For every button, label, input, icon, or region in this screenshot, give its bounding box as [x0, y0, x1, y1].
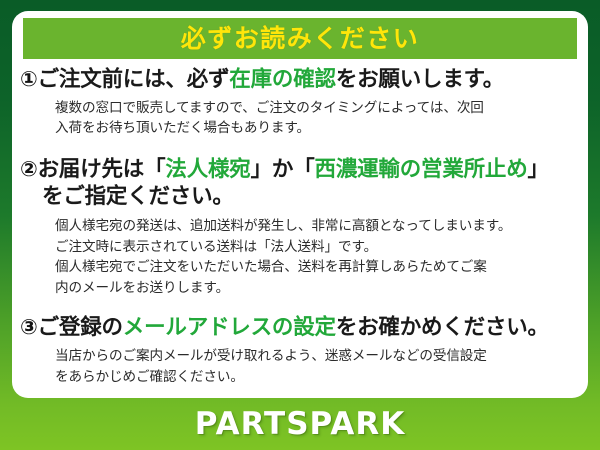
notice-item-1-heading: ① ご注文前には、必ず在庫の確認をお願いします。: [12, 66, 588, 94]
notice-item-2-heading-run-1: 法人様宛: [165, 157, 250, 182]
notice-item-2-heading-run-0: お届け先は「: [38, 157, 166, 182]
notice-item-1-body: 複数の窓口で販売してますので、ご注文のタイミングによっては、次回入荷をお待ち頂い…: [12, 98, 588, 139]
notice-banner: 必ずお読みください: [23, 18, 577, 59]
notice-item-2-number: ②: [20, 156, 38, 183]
notice-item-3-body-line-1: 当店からのご案内メールが受け取れるよう、迷惑メールなどの受信設定: [55, 346, 578, 367]
notice-item-2: ② お届け先は「法人様宛」か「西濃運輸の営業所止め」 をご指定ください。 個人様…: [12, 156, 588, 299]
notice-item-1-body-line-1: 複数の窓口で販売してますので、ご注文のタイミングによっては、次回: [55, 98, 578, 119]
notice-item-1-heading-text: ご注文前には、必ず在庫の確認をお願いします。: [38, 66, 504, 94]
notice-item-2-body-line-4: 内のメールをお送りします。: [55, 278, 578, 299]
notice-item-2-heading-run-4: 」: [528, 157, 549, 182]
notice-item-3-heading-run-2: をお確かめください。: [336, 315, 549, 340]
notice-item-3-number: ③: [20, 314, 38, 341]
banner-title: 必ずお読みください: [181, 26, 420, 51]
notice-item-2-body-line-3: 個人様宅宛でご注文をいただいた場合、送料を再計算しあらためてご案: [55, 257, 578, 278]
notice-item-2-heading-text: お届け先は「法人様宛」か「西濃運輸の営業所止め」: [38, 156, 549, 184]
notice-item-3-body: 当店からのご案内メールが受け取れるよう、迷惑メールなどの受信設定をあらかじめご確…: [12, 346, 588, 387]
notice-page: 必ずお読みください ① ご注文前には、必ず在庫の確認をお願いします。 複数の窓口…: [0, 0, 600, 450]
notice-item-1-heading-run-1: 在庫の確認: [229, 67, 336, 92]
notice-item-1: ① ご注文前には、必ず在庫の確認をお願いします。 複数の窓口で販売してますので、…: [12, 66, 588, 139]
notice-card: 必ずお読みください ① ご注文前には、必ず在庫の確認をお願いします。 複数の窓口…: [12, 11, 588, 398]
footer-bar: PARTSPARK: [0, 398, 600, 450]
notice-item-3: ③ ご登録のメールアドレスの設定をお確かめください。 当店からのご案内メールが受…: [12, 314, 588, 387]
notice-item-2-heading-run-3: 西濃運輸の営業所止め: [315, 157, 528, 182]
notice-item-3-heading-run-1: メールアドレスの設定: [123, 315, 336, 340]
notice-item-2-heading: ② お届け先は「法人様宛」か「西濃運輸の営業所止め」: [12, 156, 588, 184]
notice-item-3-heading-run-0: ご登録の: [38, 315, 123, 340]
notice-item-2-body: 個人様宅宛の発送は、追加送料が発生し、非常に高額となってしまいます。ご注文時に表…: [12, 216, 588, 299]
notice-item-3-body-line-2: をあらかじめご確認ください。: [55, 367, 578, 388]
notice-item-2-body-line-1: 個人様宅宛の発送は、追加送料が発生し、非常に高額となってしまいます。: [55, 216, 578, 237]
notice-item-1-number: ①: [20, 66, 38, 93]
notice-item-1-body-line-2: 入荷をお待ち頂いただく場合もあります。: [55, 118, 578, 139]
notice-item-3-heading: ③ ご登録のメールアドレスの設定をお確かめください。: [12, 314, 588, 342]
partspark-logo: PARTSPARK: [195, 409, 406, 440]
notice-item-2-heading-run-2: 」か「: [251, 157, 315, 182]
notice-list: ① ご注文前には、必ず在庫の確認をお願いします。 複数の窓口で販売してますので、…: [12, 66, 588, 387]
notice-item-2-body-line-2: ご注文時に表示されている送料は「法人送料」です。: [55, 237, 578, 258]
notice-item-1-heading-run-2: をお願いします。: [336, 67, 504, 92]
notice-item-1-heading-run-0: ご注文前には、必ず: [38, 67, 230, 92]
notice-item-3-heading-text: ご登録のメールアドレスの設定をお確かめください。: [38, 314, 549, 342]
notice-item-2-heading-line2: をご指定ください。: [12, 183, 588, 211]
